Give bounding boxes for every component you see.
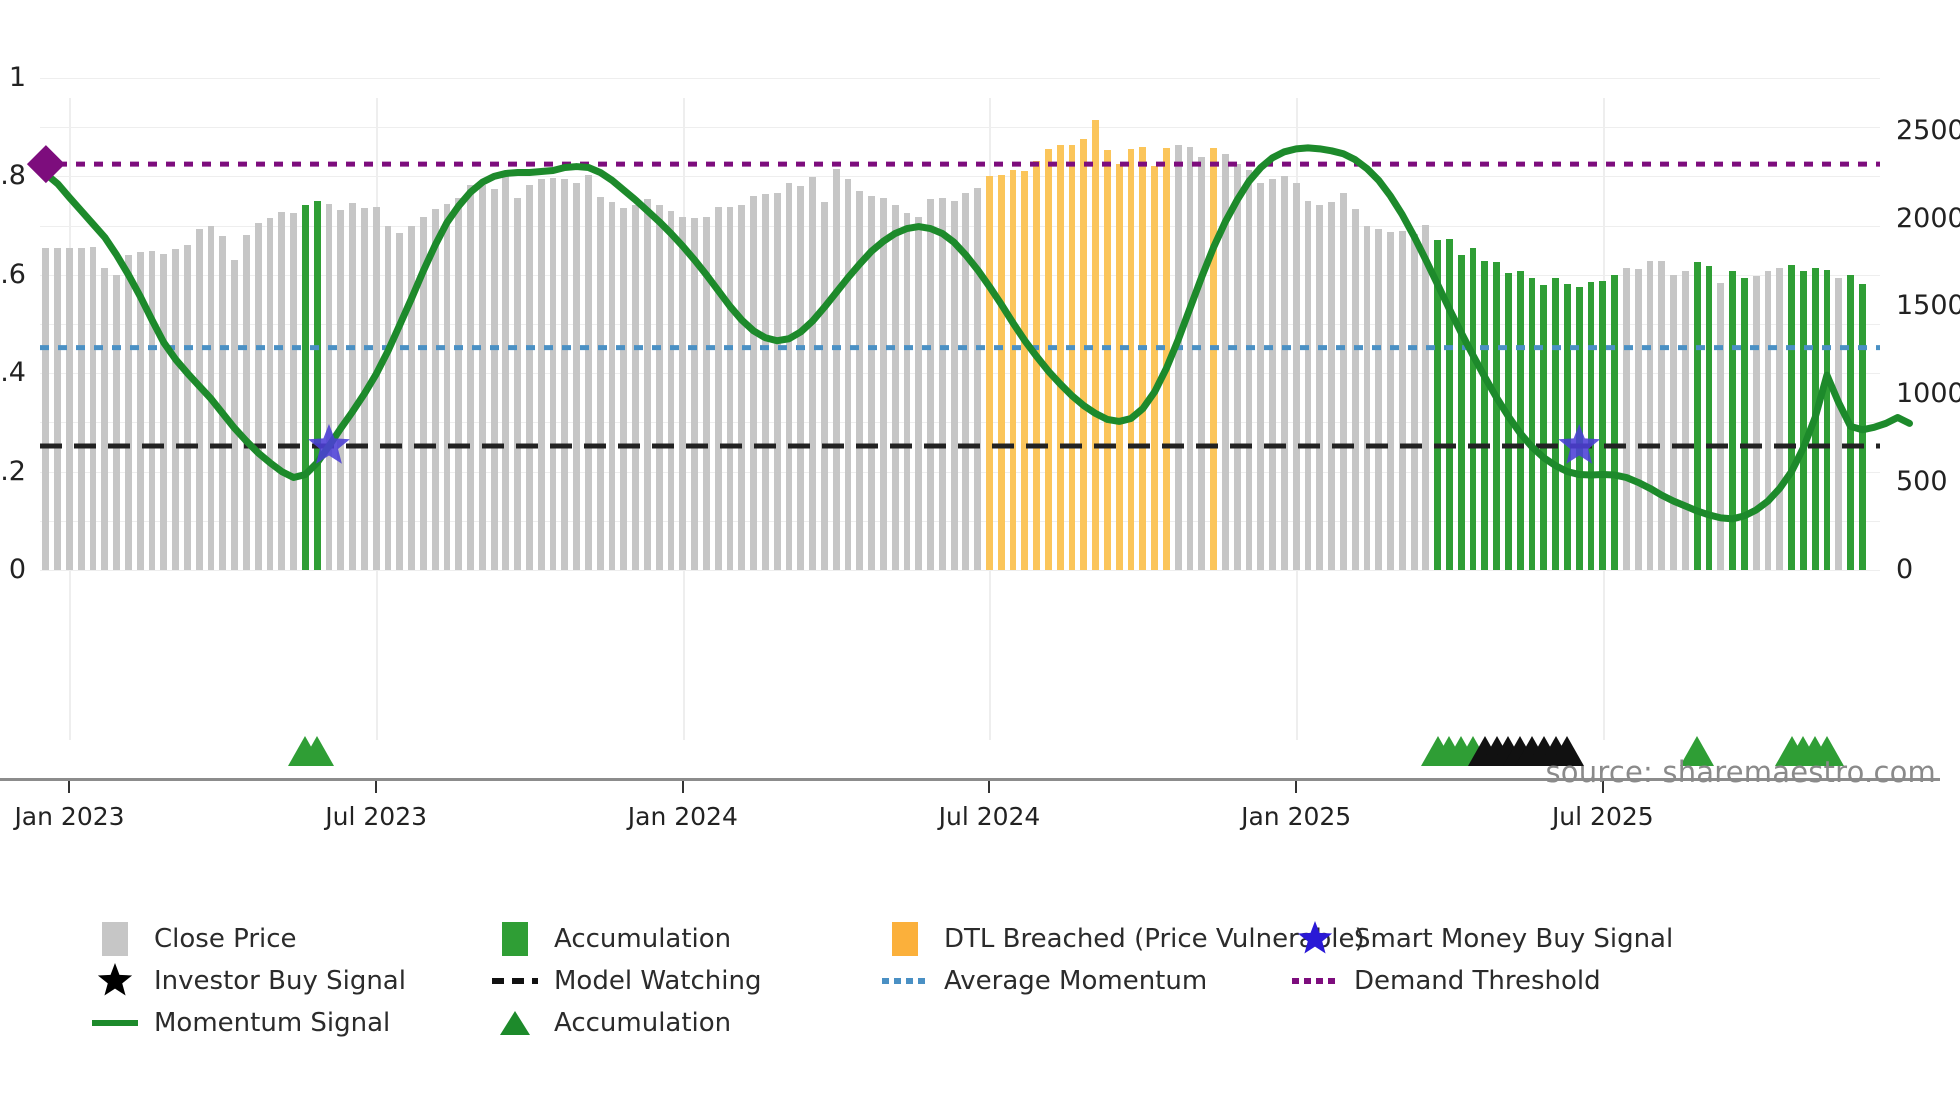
bar-accumulation: [1576, 287, 1583, 570]
legend-dotted-line-icon: [1292, 978, 1338, 984]
bar-dtl-breached: [998, 175, 1005, 570]
bar-accumulation: [1599, 281, 1606, 570]
bar-close-price: [479, 185, 486, 570]
bar-close-price: [738, 205, 745, 570]
legend-dotted-swatch: [1292, 960, 1338, 1002]
bar-close-price: [797, 186, 804, 570]
bar-close-price: [420, 217, 427, 570]
y-axis-left-tick: 1: [0, 64, 26, 91]
legend-demand-threshold[interactable]: Demand Threshold: [1292, 960, 1601, 1002]
bar-close-price: [243, 235, 250, 570]
bar-accumulation: [1824, 270, 1831, 570]
bar-close-price: [1670, 275, 1677, 570]
y-axis-left-tick: 0.2: [0, 458, 26, 485]
y-axis-right-tick: 1500: [1896, 292, 1960, 319]
bar-dtl-breached: [1057, 145, 1064, 570]
bar-close-price: [585, 175, 592, 570]
bar-close-price: [892, 205, 899, 570]
bar-accumulation: [1517, 271, 1524, 570]
legend-label: Model Watching: [554, 968, 761, 994]
bar-close-price: [54, 248, 61, 570]
bar-close-price: [1340, 193, 1347, 570]
bar-close-price: [1647, 261, 1654, 570]
bar-close-price: [927, 199, 934, 570]
bar-accumulation: [1788, 265, 1795, 570]
legend-accumulation-bar[interactable]: Accumulation: [492, 918, 731, 960]
x-axis-tick: [68, 781, 70, 793]
bar-close-price: [1305, 201, 1312, 570]
bar-close-price: [727, 207, 734, 570]
bar-close-price: [703, 217, 710, 570]
x-axis-tick-label: Jan 2024: [573, 804, 793, 829]
bar-close-price: [762, 194, 769, 570]
bar-close-price: [385, 226, 392, 570]
legend-label: Momentum Signal: [154, 1010, 390, 1036]
bar-close-price: [149, 251, 156, 570]
x-axis-tick-label: Jan 2025: [1186, 804, 1406, 829]
bar-close-price: [538, 179, 545, 570]
bar-close-price: [113, 275, 120, 570]
bar-close-price: [1246, 170, 1253, 570]
bar-close-price: [502, 176, 509, 570]
bar-close-price: [904, 213, 911, 570]
bar-close-price: [1316, 205, 1323, 570]
legend-momentum-signal[interactable]: Momentum Signal: [92, 1002, 390, 1044]
legend-smart-money-buy[interactable]: Smart Money Buy Signal: [1292, 918, 1673, 960]
bar-close-price: [514, 198, 521, 571]
bar-close-price: [1753, 276, 1760, 570]
bar-dtl-breached: [1139, 147, 1146, 570]
x-axis-tick-label: Jul 2024: [879, 804, 1099, 829]
bar-dtl-breached: [986, 176, 993, 570]
bar-accumulation: [1741, 278, 1748, 570]
legend-triangle-icon: [497, 1006, 533, 1040]
bar-close-price: [1658, 261, 1665, 570]
bar-accumulation: [1529, 278, 1536, 570]
bar-close-price: [491, 189, 498, 570]
x-axis-tick-label: Jul 2023: [266, 804, 486, 829]
legend-line-swatch: [92, 1002, 138, 1044]
y-axis-right-tick: 2000: [1896, 205, 1960, 232]
bar-close-price: [1198, 157, 1205, 570]
bar-close-price: [962, 193, 969, 570]
bar-accumulation: [1706, 266, 1713, 570]
bar-dtl-breached: [1116, 164, 1123, 570]
bar-close-price: [267, 218, 274, 570]
bar-close-price: [880, 198, 887, 571]
bar-close-price: [396, 233, 403, 570]
legend-star-icon: [1295, 919, 1335, 959]
legend-label: Average Momentum: [944, 968, 1207, 994]
bar-close-price: [715, 207, 722, 570]
bar-close-price: [644, 199, 651, 570]
bar-close-price: [915, 217, 922, 570]
bar-close-price: [125, 255, 132, 570]
bar-close-price: [1187, 147, 1194, 570]
bar-close-price: [349, 203, 356, 570]
bar-dtl-breached: [1104, 150, 1111, 570]
bar-accumulation: [1552, 278, 1559, 570]
bar-accumulation: [1493, 262, 1500, 570]
bar-close-price: [290, 213, 297, 570]
bar-dtl-breached: [1010, 170, 1017, 570]
bar-dtl-breached: [1092, 120, 1099, 570]
bar-dtl-breached: [1033, 161, 1040, 570]
chart-canvas: 00.20.40.60.81 05001000150020002500 Jan …: [0, 0, 1960, 1102]
bar-close-price: [278, 212, 285, 570]
bar-dtl-breached: [1128, 149, 1135, 570]
y-axis-right-tick: 1000: [1896, 380, 1960, 407]
bar-dtl-breached: [1151, 166, 1158, 570]
y-axis-left-tick: 0.4: [0, 359, 26, 386]
bar-close-price: [821, 202, 828, 570]
bar-accumulation: [1446, 239, 1453, 570]
bar-close-price: [1269, 179, 1276, 570]
y-axis-left-tick: 0.6: [0, 261, 26, 288]
bar-close-price: [1411, 234, 1418, 570]
bar-accumulation: [1729, 271, 1736, 570]
bar-dtl-breached: [1069, 145, 1076, 570]
legend-dashed-line-icon: [492, 978, 538, 984]
bar-close-price: [1281, 176, 1288, 570]
bar-close-price: [208, 226, 215, 570]
legend-line-icon: [92, 1020, 138, 1026]
bar-close-price: [1635, 269, 1642, 570]
bar-accumulation: [314, 201, 321, 570]
bar-close-price: [219, 236, 226, 570]
bar-close-price: [373, 207, 380, 570]
legend-accumulation-triangle[interactable]: Accumulation: [492, 1002, 731, 1044]
legend-dashed-swatch: [492, 960, 538, 1002]
x-axis-tick: [988, 781, 990, 793]
bar-close-price: [774, 193, 781, 570]
bar-close-price: [868, 196, 875, 570]
legend-label: Accumulation: [554, 1010, 731, 1036]
bar-close-price: [1422, 225, 1429, 570]
legend-label: Close Price: [154, 926, 297, 952]
legend-square-swatch: [492, 918, 538, 960]
legend-square-icon: [102, 922, 128, 956]
legend-label: Smart Money Buy Signal: [1354, 926, 1673, 952]
legend-investor-buy[interactable]: Investor Buy Signal: [92, 960, 406, 1002]
x-axis-tick: [1295, 781, 1297, 793]
demand-threshold-diamond-marker: [27, 145, 65, 183]
bar-close-price: [939, 198, 946, 570]
bar-accumulation: [1694, 262, 1701, 570]
bar-close-price: [361, 208, 368, 570]
bar-close-price: [561, 179, 568, 570]
bar-close-price: [137, 252, 144, 570]
bar-accumulation: [1812, 268, 1819, 570]
bar-dtl-breached: [1210, 148, 1217, 570]
x-axis-tick-label: Jul 2025: [1493, 804, 1713, 829]
bar-accumulation: [1800, 271, 1807, 570]
bar-close-price: [750, 196, 757, 570]
bar-close-price: [1352, 209, 1359, 570]
bar-close-price: [1364, 226, 1371, 570]
bar-close-price: [597, 197, 604, 570]
legend-average-momentum[interactable]: Average Momentum: [882, 960, 1207, 1002]
legend-model-watching[interactable]: Model Watching: [492, 960, 761, 1002]
bar-close-price: [1682, 271, 1689, 570]
legend-star-icon: [95, 961, 135, 1001]
bar-close-price: [632, 205, 639, 570]
bar-close-price: [337, 210, 344, 570]
bar-close-price: [951, 201, 958, 570]
bar-close-price: [172, 249, 179, 570]
bar-close-price: [1293, 183, 1300, 570]
bar-close-price: [1776, 268, 1783, 570]
x-axis-tick: [682, 781, 684, 793]
bar-accumulation: [302, 205, 309, 570]
legend-square-icon: [502, 922, 528, 956]
bar-close-price: [1835, 278, 1842, 570]
legend-square-swatch: [92, 918, 138, 960]
y-axis-right-tick: 2500: [1896, 117, 1960, 144]
bar-close-price: [66, 248, 73, 570]
bar-accumulation: [1434, 240, 1441, 570]
bar-close-price: [160, 254, 167, 570]
legend-label: Accumulation: [554, 926, 731, 952]
source-watermark: source: sharemaestro.com: [1546, 755, 1937, 789]
bar-close-price: [526, 185, 533, 570]
legend-dotted-swatch: [882, 960, 928, 1002]
bar-accumulation: [1481, 261, 1488, 570]
bar-close-price: [90, 247, 97, 570]
bar-close-price: [255, 223, 262, 570]
bar-close-price: [1399, 231, 1406, 570]
chart-legend: Close PriceAccumulationDTL Breached (Pri…: [92, 918, 1882, 1058]
bar-accumulation: [1564, 284, 1571, 570]
y-axis-right-tick: 500: [1896, 468, 1960, 495]
bar-close-price: [196, 229, 203, 570]
legend-square-icon: [892, 922, 918, 956]
bar-close-price: [550, 178, 557, 570]
bar-close-price: [1387, 232, 1394, 570]
bar-close-price: [42, 248, 49, 570]
legend-star-swatch: [92, 960, 138, 1002]
bar-close-price: [809, 177, 816, 570]
bar-close-price: [668, 211, 675, 570]
bar-close-price: [432, 209, 439, 570]
bar-close-price: [1222, 154, 1229, 570]
bar-close-price: [856, 191, 863, 570]
bar-close-price: [1328, 202, 1335, 570]
bar-accumulation: [1470, 248, 1477, 570]
bar-accumulation: [1458, 255, 1465, 570]
bar-close-price: [184, 245, 191, 570]
bar-accumulation: [1859, 284, 1866, 570]
bar-close-price: [455, 198, 462, 571]
bar-close-price: [1234, 164, 1241, 570]
bar-close-price: [974, 188, 981, 570]
legend-star-swatch: [1292, 918, 1338, 960]
bar-close-price: [326, 204, 333, 570]
bar-accumulation: [1505, 273, 1512, 570]
bar-close-price: [833, 169, 840, 570]
y-axis-left-tick: 0: [0, 556, 26, 583]
bar-close-price: [656, 205, 663, 570]
bar-close-price: [845, 179, 852, 570]
x-axis-tick-label: Jan 2023: [0, 804, 180, 829]
bar-close-price: [691, 218, 698, 570]
bar-dtl-breached: [1163, 148, 1170, 570]
bar-accumulation: [1588, 282, 1595, 570]
bar-close-price: [1623, 268, 1630, 570]
legend-label: Investor Buy Signal: [154, 968, 406, 994]
bar-dtl-breached: [1045, 149, 1052, 570]
y-axis-right-tick: 0: [1896, 556, 1960, 583]
bar-accumulation: [1611, 275, 1618, 570]
bar-close-price: [573, 183, 580, 570]
y-axis-left-tick: 0.8: [0, 162, 26, 189]
bar-close-price: [231, 260, 238, 570]
bar-close-price: [1765, 271, 1772, 570]
legend-label: Demand Threshold: [1354, 968, 1601, 994]
legend-triangle-swatch: [492, 1002, 538, 1044]
bar-close-price: [679, 217, 686, 570]
bar-close-price: [101, 268, 108, 570]
bar-close-price: [1175, 145, 1182, 570]
bar-close-price: [1375, 229, 1382, 570]
legend-close-price[interactable]: Close Price: [92, 918, 297, 960]
bar-dtl-breached: [1080, 139, 1087, 570]
bar-dtl-breached: [1021, 171, 1028, 570]
bar-close-price: [467, 185, 474, 570]
bar-close-price: [1717, 283, 1724, 570]
bar-accumulation: [1847, 275, 1854, 570]
bar-close-price: [1257, 183, 1264, 570]
bar-close-price: [78, 248, 85, 570]
bar-close-price: [786, 183, 793, 570]
accumulation-marker: [300, 736, 334, 766]
bar-close-price: [408, 226, 415, 570]
bar-close-price: [620, 208, 627, 570]
x-axis-tick: [375, 781, 377, 793]
bar-accumulation: [1540, 285, 1547, 570]
legend-dotted-line-icon: [882, 978, 928, 984]
bar-close-price: [444, 204, 451, 570]
bar-close-price: [609, 202, 616, 570]
plot-area: [40, 78, 1880, 570]
legend-square-swatch: [882, 918, 928, 960]
